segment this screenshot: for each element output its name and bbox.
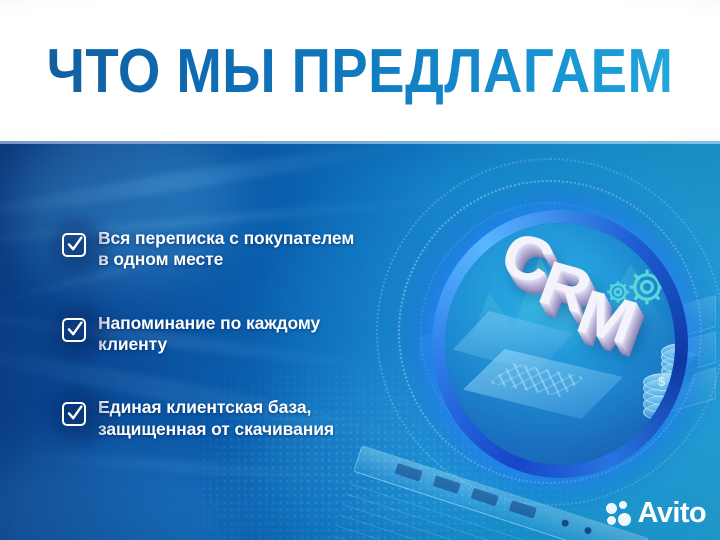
feature-list: Вся переписка с покупателем в одном мест…: [62, 228, 462, 440]
checkbox-checked-icon: [62, 318, 86, 342]
list-item: Напоминание по каждому клиенту: [62, 313, 462, 356]
promo-banner: ЧТО МЫ ПРЕДЛАГАЕМ: [0, 0, 720, 540]
checkbox-checked-icon: [62, 233, 86, 257]
crm-illustration: CRM: [432, 210, 688, 478]
header-band: ЧТО МЫ ПРЕДЛАГАЕМ: [0, 0, 720, 144]
ring-interior: CRM: [445, 223, 675, 465]
main-panel: CRM: [0, 144, 720, 540]
checkbox-checked-icon: [62, 402, 86, 426]
crm-3d-text: CRM: [460, 235, 676, 429]
avito-wordmark: Avito: [638, 499, 706, 528]
gear-icon: [627, 267, 667, 317]
page-title: ЧТО МЫ ПРЕДЛАГАЕМ: [43, 0, 677, 144]
coin-currency-symbol: $: [658, 374, 665, 389]
gear-icon: [605, 279, 631, 312]
avito-logo-icon: [606, 501, 632, 527]
avito-watermark: Avito: [606, 499, 706, 528]
list-item-label: Единая клиентская база, защищенная от ск…: [98, 397, 334, 440]
list-item: Единая клиентская база, защищенная от ск…: [62, 397, 462, 440]
list-item: Вся переписка с покупателем в одном мест…: [62, 228, 462, 271]
list-item-label: Напоминание по каждому клиенту: [98, 313, 320, 356]
list-item-label: Вся переписка с покупателем в одном мест…: [98, 228, 354, 271]
